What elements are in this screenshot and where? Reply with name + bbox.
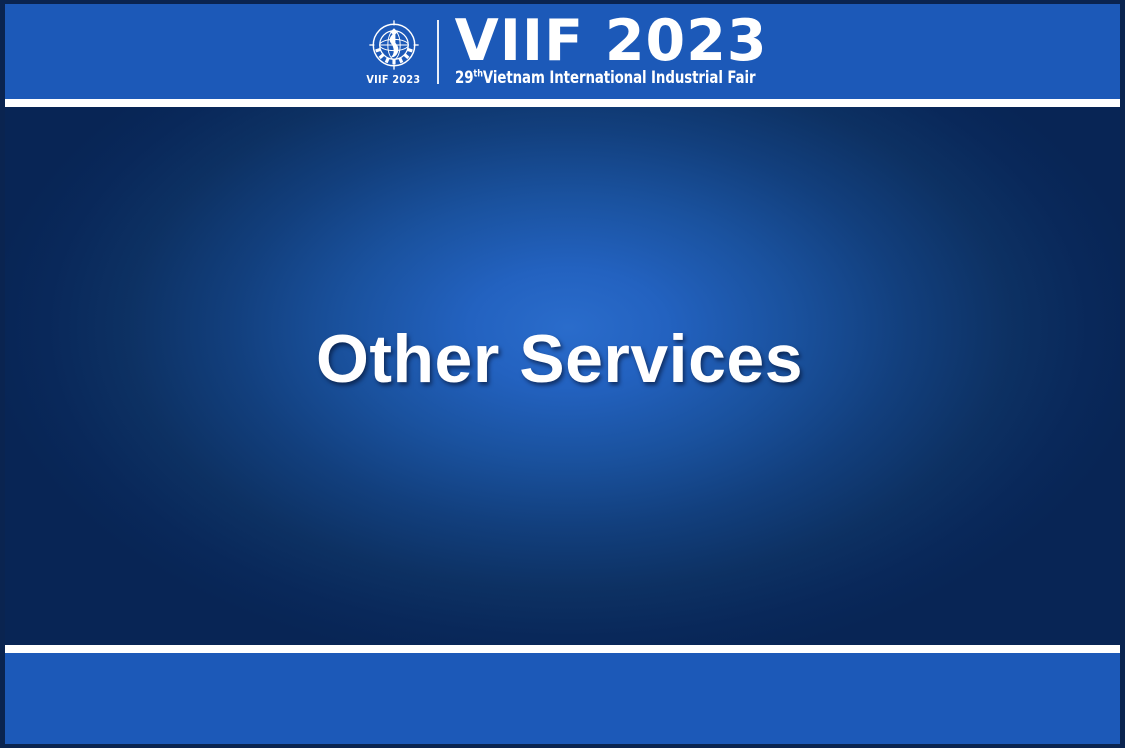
viif-logo-caption: VIIF 2023 — [367, 74, 421, 86]
brand-subtitle-text: Vietnam International Industrial Fair — [482, 68, 755, 87]
slide-header-band: VIIF 2023 VIIF 2023 29thVietnam Internat… — [5, 4, 1120, 99]
brand-title: VIIF 2023 — [455, 15, 768, 68]
slide-footer-band — [5, 653, 1120, 744]
brand-subtitle-ordinal: 29 — [455, 68, 473, 87]
brand-vertical-divider — [437, 20, 439, 84]
header-separator-line — [5, 99, 1120, 107]
slide-title: Other Services — [316, 325, 803, 393]
slide-body: Other Services — [5, 107, 1120, 645]
brand-subtitle: 29thVietnam International Industrial Fai… — [455, 70, 755, 87]
brand-subtitle-ordinal-suffix: th — [473, 68, 482, 79]
viif-brand-lockup: VIIF 2023 VIIF 2023 29thVietnam Internat… — [357, 11, 789, 93]
brand-text-group: VIIF 2023 29thVietnam International Indu… — [455, 13, 789, 91]
slide-content-frame: VIIF 2023 VIIF 2023 29thVietnam Internat… — [5, 4, 1120, 744]
footer-separator-line — [5, 645, 1120, 653]
presentation-slide: VIIF 2023 VIIF 2023 29thVietnam Internat… — [0, 0, 1125, 748]
viif-globe-gear-emblem-icon — [366, 17, 422, 73]
viif-logo-block: VIIF 2023 — [357, 11, 431, 93]
